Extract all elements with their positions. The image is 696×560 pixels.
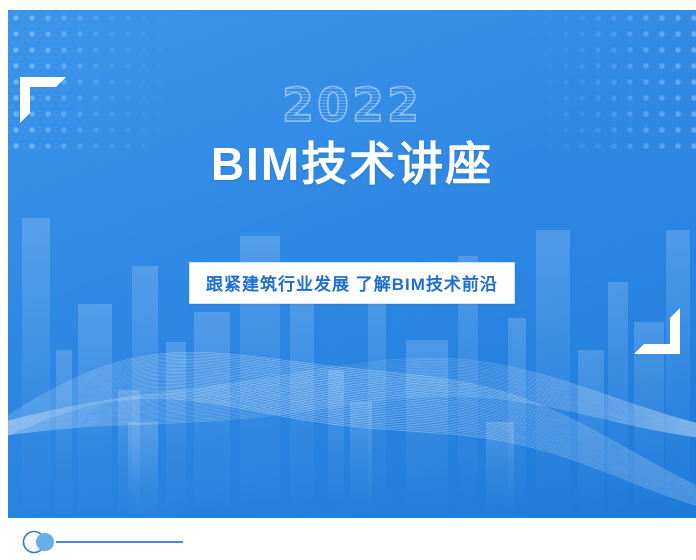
subtitle-banner-wrap: 跟紧建筑行业发展 了解BIM技术前沿	[8, 262, 696, 304]
deco-circle-filled-icon	[36, 533, 54, 551]
year-label: 2022	[8, 82, 696, 128]
footer-decoration	[20, 528, 220, 556]
wave-ribbons-graphic	[8, 288, 696, 518]
slide-background-panel: 2022 BIM技术讲座 跟紧建筑行业发展 了解BIM技术前沿	[8, 10, 696, 518]
slide-canvas: 2022 BIM技术讲座 跟紧建筑行业发展 了解BIM技术前沿	[0, 0, 696, 560]
wave-line	[8, 365, 696, 490]
wave-line	[8, 364, 696, 490]
title-block: 2022 BIM技术讲座	[8, 82, 696, 191]
page-title: BIM技术讲座	[8, 138, 696, 191]
subtitle-banner: 跟紧建筑行业发展 了解BIM技术前沿	[189, 262, 515, 304]
corner-bracket-bottom-right-icon	[634, 308, 680, 354]
wave-line	[8, 362, 696, 489]
